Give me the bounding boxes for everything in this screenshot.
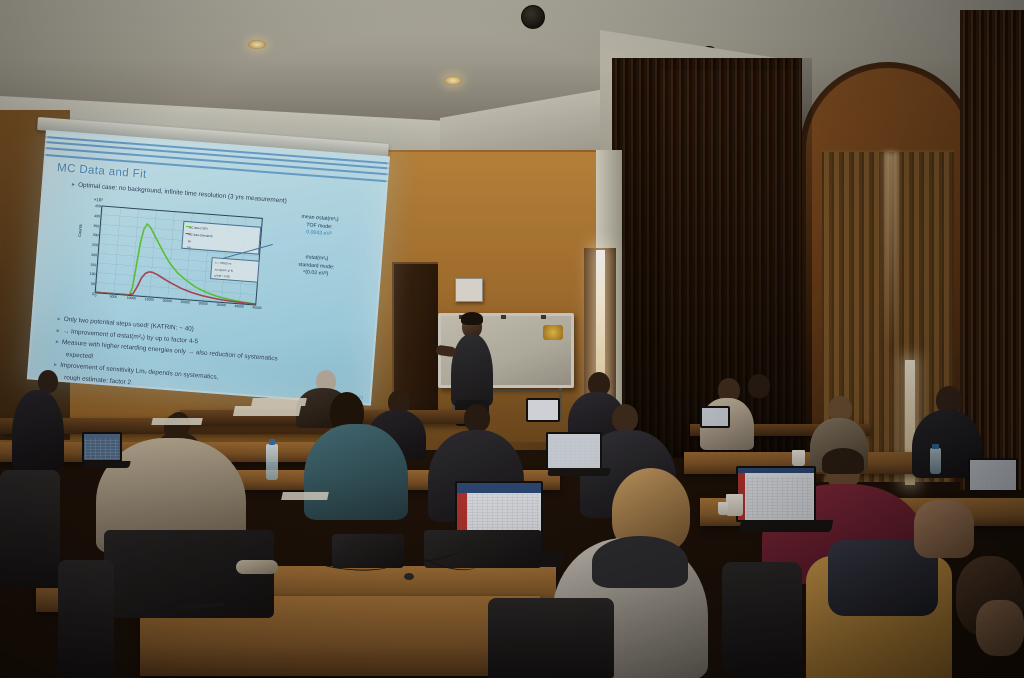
whiteboard-clip-icon [541, 315, 546, 319]
downlight-icon [248, 40, 266, 49]
hand-icon [976, 600, 1024, 656]
presenter-hair [461, 312, 483, 325]
eyeglasses-icon [236, 560, 278, 574]
downlight-icon [444, 76, 462, 85]
presenter-torso [451, 334, 493, 406]
mouse-icon [404, 573, 414, 580]
water-bottle [266, 444, 278, 480]
side-door[interactable] [392, 262, 438, 410]
whiteboard-clip-icon [501, 315, 506, 319]
paper-cup [726, 494, 743, 516]
ceiling-speaker-icon [521, 5, 545, 29]
wood-panel-shadow [612, 58, 812, 458]
paper-sheet [151, 418, 202, 425]
chair[interactable] [0, 470, 60, 588]
chair[interactable] [488, 598, 614, 678]
attendee-maroon-hair [822, 448, 864, 474]
paper-cup [792, 450, 805, 466]
screen-border [27, 130, 390, 406]
hand-icon [914, 500, 974, 558]
wall-sign [455, 278, 483, 302]
lecture-hall-photo: MC Data and Fit ▸Optimal case: no backgr… [0, 0, 1024, 678]
paper-sheet [251, 398, 307, 406]
projection-screen: MC Data and Fit ▸Optimal case: no backgr… [27, 130, 390, 406]
curtain-light-glow [884, 152, 898, 352]
paper-sheet [281, 492, 329, 500]
paper-sheet [233, 406, 301, 416]
chair[interactable] [722, 562, 802, 678]
chair[interactable] [58, 560, 114, 678]
paper-cup [718, 502, 728, 515]
water-bottle [930, 448, 941, 474]
whiteboard-sticker-icon [543, 325, 563, 340]
